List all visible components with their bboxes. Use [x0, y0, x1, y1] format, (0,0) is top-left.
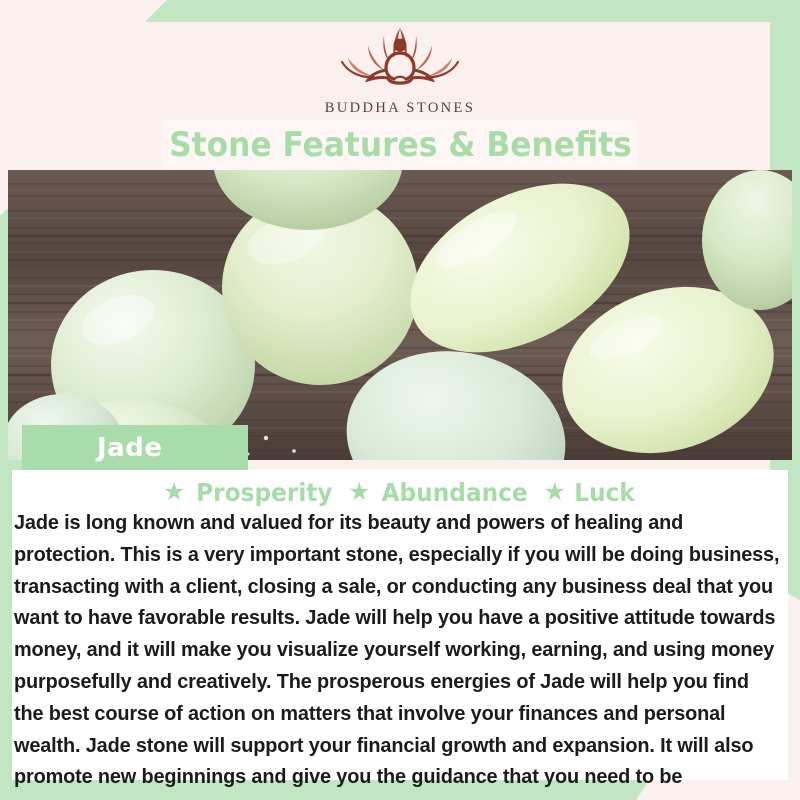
- stone-description: Jade is long known and valued for its be…: [14, 508, 780, 800]
- title-banner: Stone Features & Benefits: [162, 120, 638, 170]
- keyword-item: ★ Prosperity: [163, 478, 338, 507]
- brand-name: BUDDHA STONES: [0, 100, 800, 117]
- stone-photo-illustration: [8, 170, 792, 460]
- brand-logo-block: BUDDHA STONES: [0, 18, 800, 117]
- keyword-item: ★ Abundance: [348, 478, 534, 507]
- star-icon: ★: [348, 480, 370, 505]
- keyword-label: Abundance: [382, 478, 528, 507]
- keyword-list: ★ Prosperity ★ Abundance ★ Luck: [12, 478, 788, 507]
- keyword-label: Luck: [574, 478, 635, 507]
- keyword-label: Prosperity: [196, 478, 332, 507]
- keyword-item: ★ Luck: [544, 478, 638, 507]
- star-icon: ★: [163, 480, 185, 505]
- stone-name-label: Jade: [97, 433, 162, 463]
- star-icon: ★: [544, 480, 566, 505]
- page-title: Stone Features & Benefits: [169, 125, 632, 165]
- stone-photo: [8, 170, 792, 460]
- lotus-meditation-icon: [324, 18, 476, 96]
- stone-name-banner: Jade: [22, 425, 248, 470]
- infographic-page: BUDDHA STONES Stone Features & Benefits: [0, 0, 800, 800]
